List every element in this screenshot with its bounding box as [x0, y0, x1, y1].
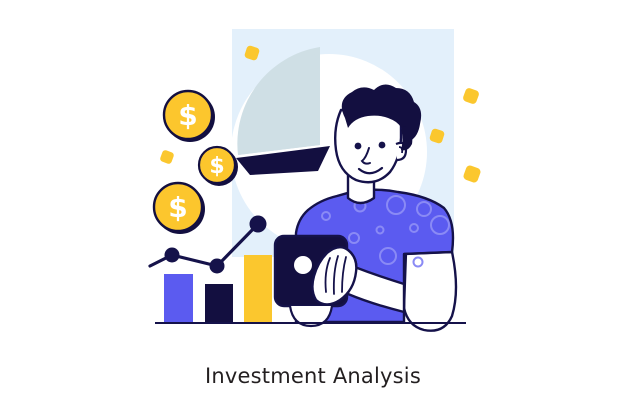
bar-3	[244, 255, 272, 323]
coin-middle-dollar-icon: $	[209, 154, 224, 179]
person-left-eye	[355, 143, 362, 150]
coin-bottom-dollar-icon: $	[168, 191, 187, 224]
bar-1	[164, 274, 193, 323]
accent-square-bottom-right	[462, 164, 481, 183]
investment-analysis-illustration: $ $ $	[0, 0, 626, 417]
person-right-arm	[404, 252, 456, 331]
accent-square-top-right	[462, 87, 480, 105]
coin-top: $	[164, 91, 215, 142]
coin-top-dollar-icon: $	[178, 99, 197, 132]
page-title: Investment Analysis	[205, 364, 421, 388]
trend-node-1	[165, 248, 180, 263]
tablet-camera-dot-icon	[294, 256, 312, 274]
trend-node-2	[210, 259, 225, 274]
accent-square-mid-left	[159, 149, 174, 164]
person-face	[335, 110, 401, 182]
illustration-canvas: $ $ $	[0, 0, 626, 417]
coin-bottom: $	[154, 183, 205, 234]
bar-2	[205, 284, 233, 323]
trend-node-3	[250, 216, 267, 233]
person-right-eye	[379, 142, 386, 149]
